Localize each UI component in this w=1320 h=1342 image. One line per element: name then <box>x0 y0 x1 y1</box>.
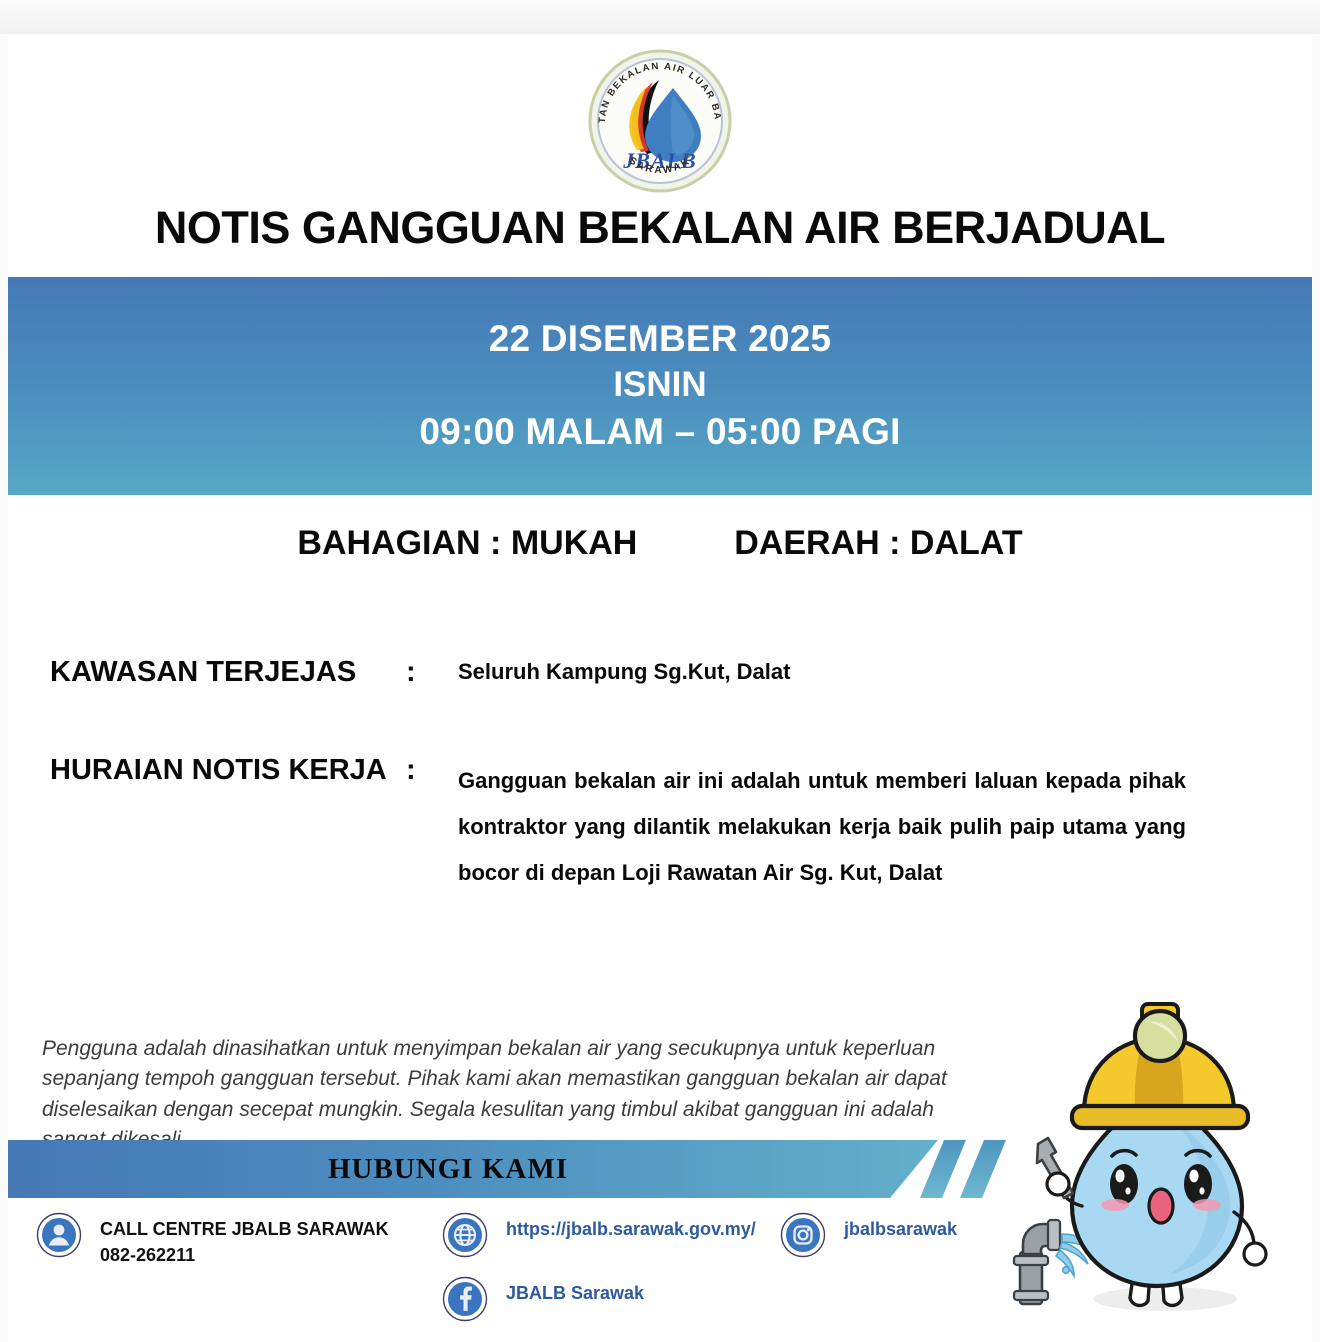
footer-title: HUBUNGI KAMI <box>8 1140 888 1198</box>
hard-hat <box>1072 1004 1248 1128</box>
field-label: HURAIAN NOTIS KERJA <box>50 754 387 787</box>
contact-facebook[interactable]: JBALB Sarawak <box>442 1276 644 1322</box>
contact-instagram[interactable]: jbalbsarawak <box>780 1212 957 1258</box>
date-band: 22 DISEMBER 2025 ISNIN 09:00 MALAM – 05:… <box>8 277 1312 495</box>
field-label: KAWASAN TERJEJAS <box>50 656 356 689</box>
disclaimer-text: Pengguna adalah dinasihatkan untuk menyi… <box>42 1034 954 1156</box>
person-icon <box>36 1212 82 1258</box>
jbalb-logo: JBALB JABATAN BEKALAN AIR LUAR BANDAR SA… <box>585 46 735 196</box>
poster-page: JBALB JABATAN BEKALAN AIR LUAR BANDAR SA… <box>0 0 1320 1342</box>
page-title: NOTIS GANGGUAN BEKALAN AIR BERJADUAL <box>8 202 1312 254</box>
top-margin-strip <box>0 0 1320 34</box>
contact-call-centre-text: CALL CENTRE JBALB SARAWAK 082-262211 <box>100 1212 389 1268</box>
bahagian-text: BAHAGIAN : MUKAH <box>297 524 637 562</box>
contact-call-centre[interactable]: CALL CENTRE JBALB SARAWAK 082-262211 <box>36 1212 389 1268</box>
field-colon: : <box>406 754 416 787</box>
poster-sheet: JBALB JABATAN BEKALAN AIR LUAR BANDAR SA… <box>8 34 1312 1342</box>
instagram-handle[interactable]: jbalbsarawak <box>844 1212 957 1242</box>
right-margin-strip <box>1312 34 1320 1342</box>
facebook-handle[interactable]: JBALB Sarawak <box>506 1276 644 1306</box>
contact-website[interactable]: https://jbalb.sarawak.gov.my/ <box>442 1212 756 1258</box>
website-url[interactable]: https://jbalb.sarawak.gov.my/ <box>506 1212 756 1242</box>
footer-diagonal-stripe <box>960 1140 1006 1198</box>
field-value: Gangguan bekalan air ini adalah untuk me… <box>458 758 1186 897</box>
notice-day: ISNIN <box>613 362 706 408</box>
water-drop-mascot <box>1002 994 1312 1342</box>
field-value: Seluruh Kampung Sg.Kut, Dalat <box>458 660 1188 684</box>
left-margin-strip <box>0 34 8 1342</box>
instagram-icon <box>780 1212 826 1258</box>
region-row: BAHAGIAN : MUKAH DAERAH : DALAT <box>8 524 1312 563</box>
globe-icon <box>442 1212 488 1258</box>
facebook-icon <box>442 1276 488 1322</box>
pipe <box>1014 1220 1060 1304</box>
notice-time-range: 09:00 MALAM – 05:00 PAGI <box>419 408 900 456</box>
call-centre-number: 082-262211 <box>100 1245 195 1265</box>
call-centre-name: CALL CENTRE JBALB SARAWAK <box>100 1219 389 1239</box>
field-colon: : <box>406 656 416 689</box>
daerah-text: DAERAH : DALAT <box>734 524 1022 562</box>
notice-date: 22 DISEMBER 2025 <box>489 316 832 362</box>
